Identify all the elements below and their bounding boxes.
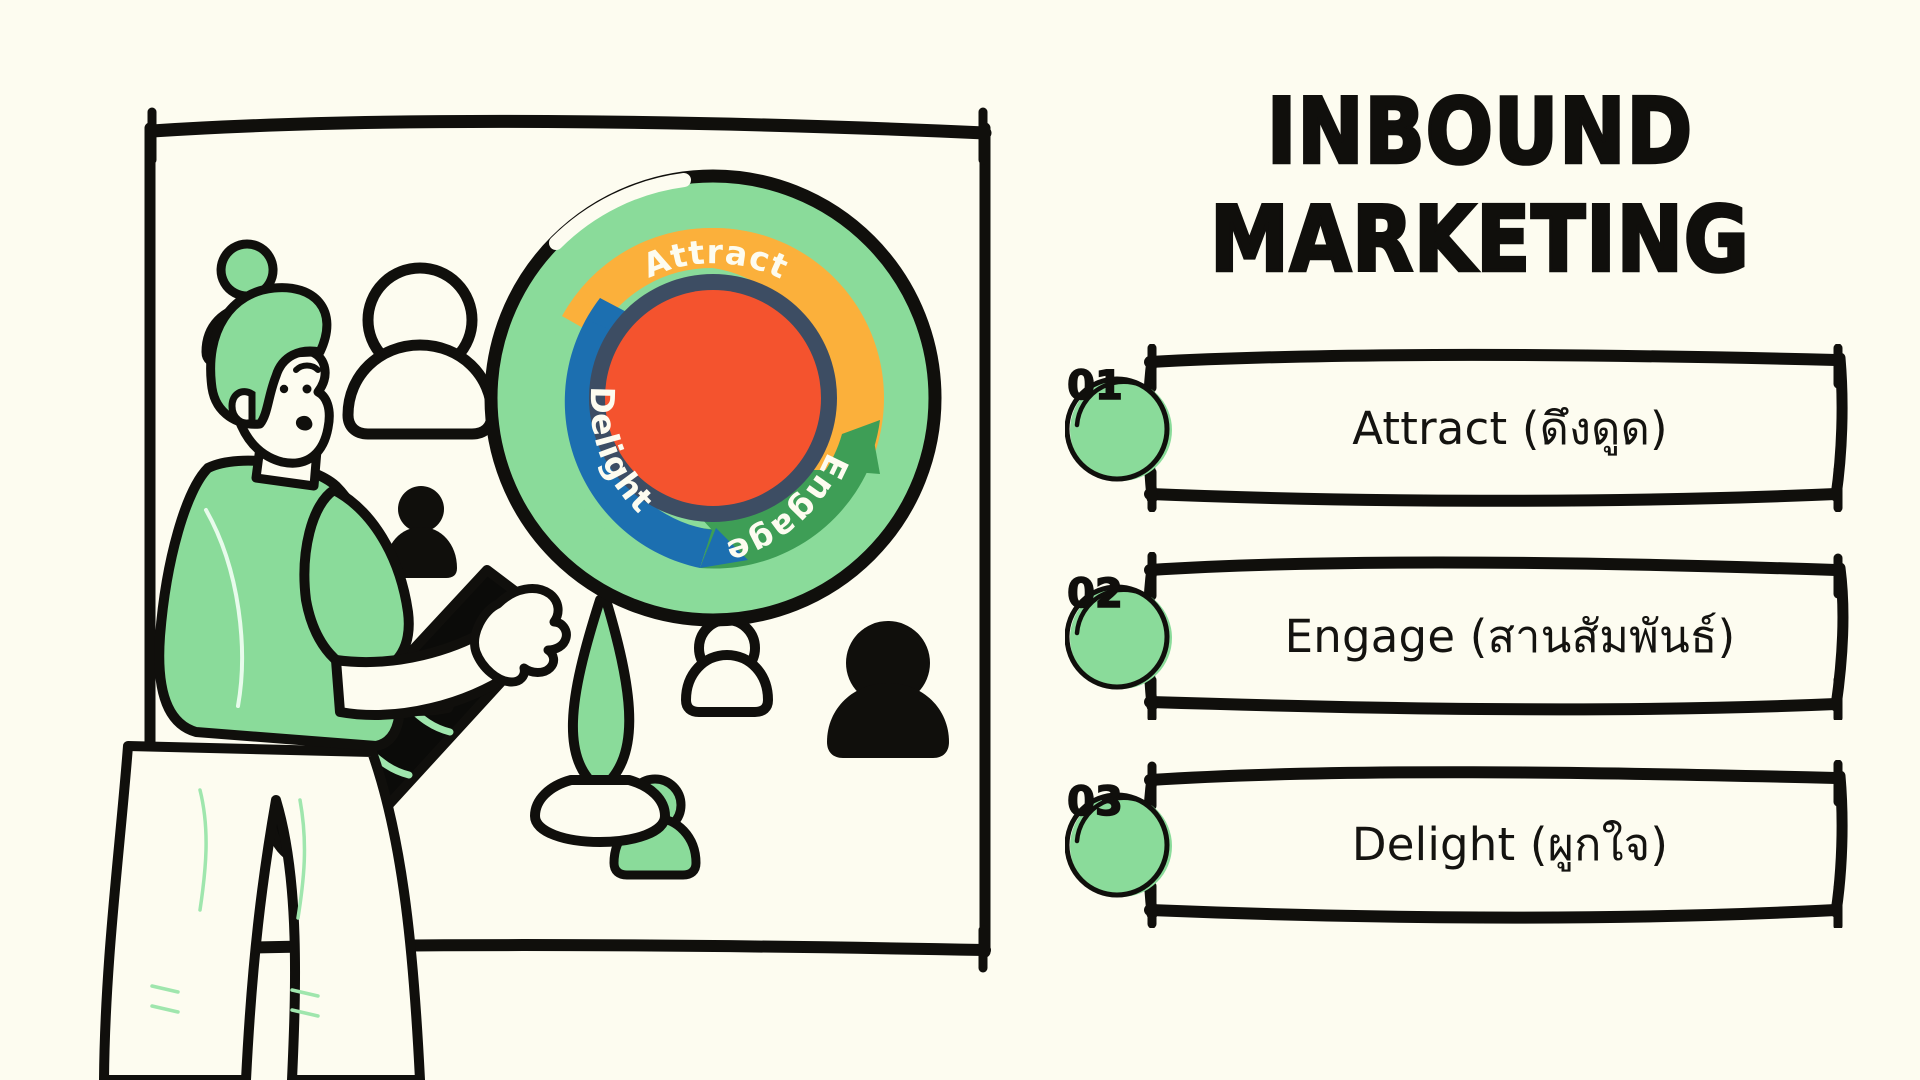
title-line-1: INBOUND <box>1022 90 1920 175</box>
content-panel: INBOUND MARKETING <box>1040 0 1920 1080</box>
list-item[interactable]: 02 Engage (สานสัมพันธ์) <box>1040 538 1920 746</box>
step-label: Delight (ผูกใจ) <box>1190 760 1830 928</box>
steps-list: 01 Attract (ดึงดูด) <box>1040 330 1920 954</box>
title-line-2: MARKETING <box>1022 198 1920 283</box>
list-item[interactable]: 03 Delight (ผูกใจ) <box>1040 746 1920 954</box>
user-icon-black-large-right <box>827 621 949 758</box>
step-number: 01 <box>1040 330 1152 442</box>
step-number: 03 <box>1040 746 1152 858</box>
user-icon-outline-large-top <box>348 268 492 434</box>
step-number: 02 <box>1040 538 1152 650</box>
step-label: Engage (สานสัมพันธ์) <box>1190 552 1830 720</box>
step-label: Attract (ดึงดูด) <box>1190 344 1830 512</box>
user-icon-outline-small-center <box>686 620 768 712</box>
page-title: INBOUND MARKETING <box>1040 96 1920 276</box>
list-item[interactable]: 01 Attract (ดึงดูด) <box>1040 330 1920 538</box>
illustration-panel: Attract Engage Delight <box>0 0 1040 1080</box>
infographic-canvas: Attract Engage Delight <box>0 0 1920 1080</box>
